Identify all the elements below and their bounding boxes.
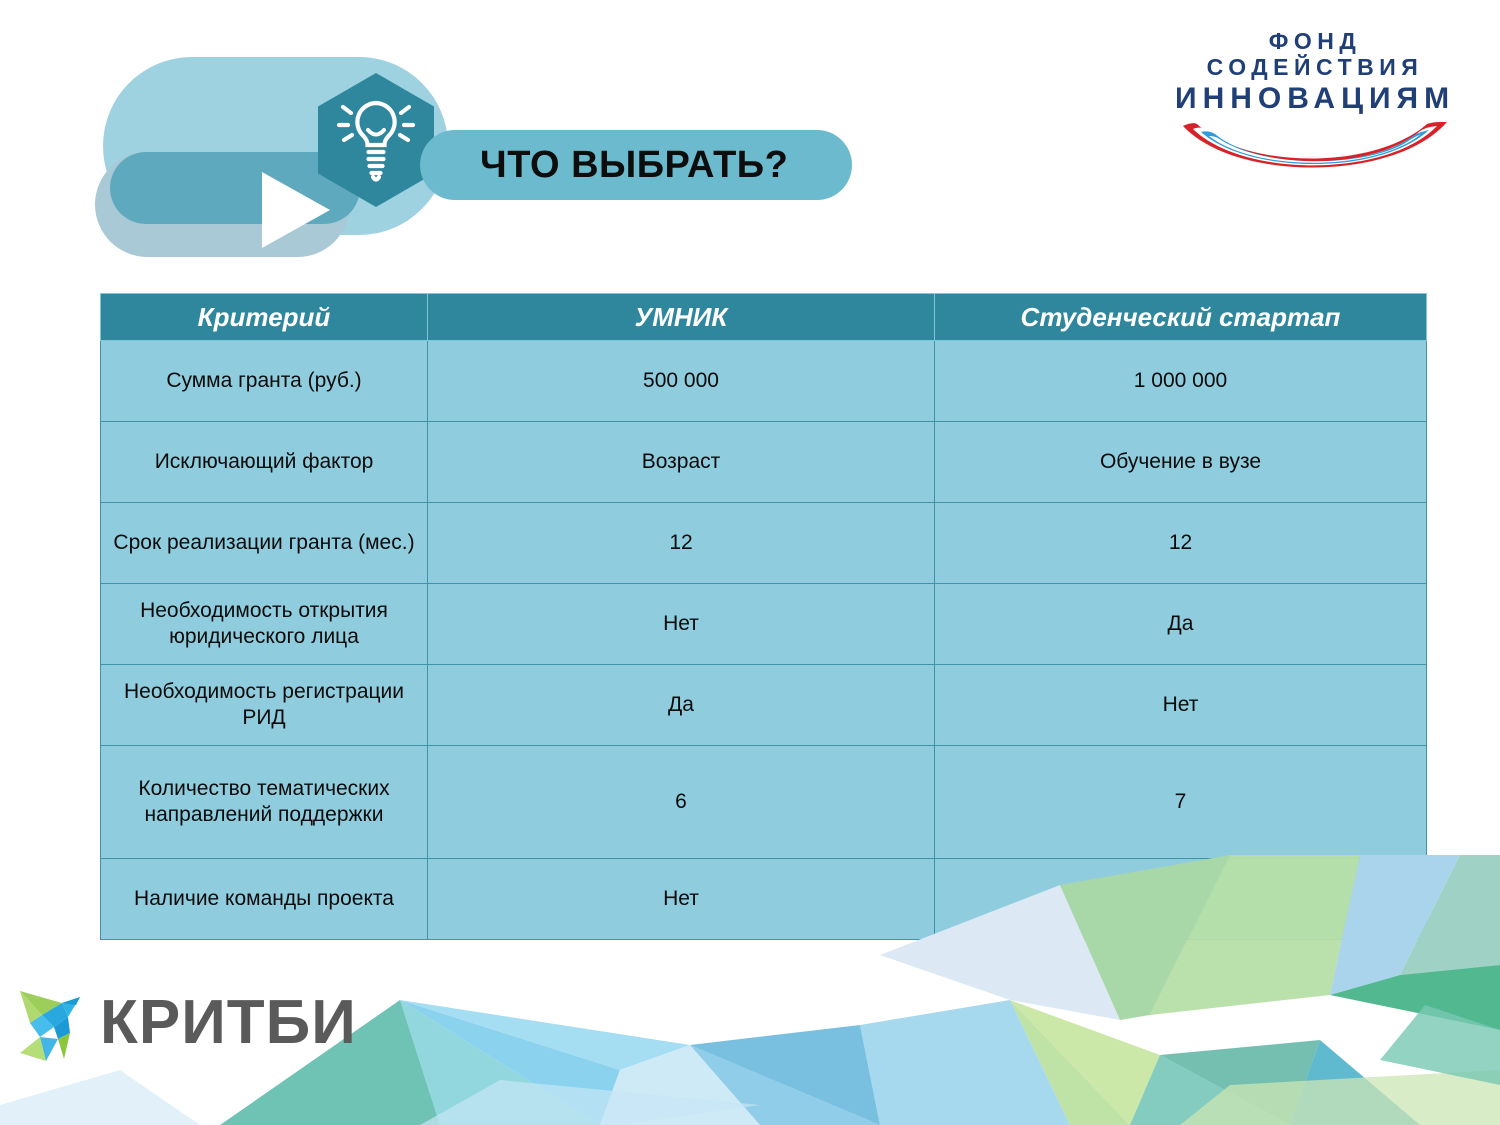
kritbi-logo-text: КРИТБИ [100, 987, 357, 1058]
table-row: Срок реализации гранта (мес.) 12 12 [101, 503, 1427, 584]
cell-umnik: 500 000 [428, 341, 935, 422]
cell-startup: Нет [935, 665, 1427, 746]
cell-startup: Обучение в вузе [935, 422, 1427, 503]
cell-criterion: Исключающий фактор [101, 422, 428, 503]
comparison-table: Критерий УМНИК Студенческий стартап Сумм… [100, 293, 1427, 940]
cell-criterion: Срок реализации гранта (мес.) [101, 503, 428, 584]
fasie-logo-line1: ФОНД СОДЕЙСТВИЯ [1175, 28, 1455, 80]
cell-startup: Да [935, 584, 1427, 665]
cell-umnik: 12 [428, 503, 935, 584]
kritbi-bird-icon [14, 975, 100, 1067]
cell-criterion: Сумма гранта (руб.) [101, 341, 428, 422]
cell-startup: 7 [935, 746, 1427, 859]
cell-umnik: Да [428, 665, 935, 746]
cell-criterion: Количество тематических направлений подд… [101, 746, 428, 859]
title-decoration: ЧТО ВЫБРАТЬ? [0, 0, 900, 280]
slide-root: ЧТО ВЫБРАТЬ? ФОНД СОДЕЙСТВИЯ ИННОВАЦИЯМ … [0, 0, 1500, 1125]
cell-startup: 12 [935, 503, 1427, 584]
hexagon-badge [318, 73, 434, 207]
column-header-startup: Студенческий стартап [935, 294, 1427, 341]
cell-startup: 1 000 000 [935, 341, 1427, 422]
column-header-umnik: УМНИК [428, 294, 935, 341]
cell-umnik: Нет [428, 584, 935, 665]
lightbulb-icon [318, 73, 434, 207]
slide-title-pill: ЧТО ВЫБРАТЬ? [420, 130, 852, 200]
fasie-logo-line2: ИННОВАЦИЯМ [1175, 82, 1455, 116]
fasie-swoosh-icon [1175, 120, 1455, 172]
page-title: ЧТО ВЫБРАТЬ? [480, 144, 788, 187]
cell-criterion: Необходимость регистрации РИД [101, 665, 428, 746]
kritbi-logo: КРИТБИ [14, 975, 354, 1070]
table-row: Сумма гранта (руб.) 500 000 1 000 000 [101, 341, 1427, 422]
cell-criterion: Необходимость открытия юридического лица [101, 584, 428, 665]
table-header-row: Критерий УМНИК Студенческий стартап [101, 294, 1427, 341]
table-row: Необходимость регистрации РИД Да Нет [101, 665, 1427, 746]
fasie-logo: ФОНД СОДЕЙСТВИЯ ИННОВАЦИЯМ [1175, 28, 1455, 158]
comparison-table-wrapper: Критерий УМНИК Студенческий стартап Сумм… [100, 293, 1426, 940]
table-row: Исключающий фактор Возраст Обучение в ву… [101, 422, 1427, 503]
table-row: Количество тематических направлений подд… [101, 746, 1427, 859]
cell-umnik: 6 [428, 746, 935, 859]
cell-umnik: Возраст [428, 422, 935, 503]
column-header-criterion: Критерий [101, 294, 428, 341]
table-row: Необходимость открытия юридического лица… [101, 584, 1427, 665]
